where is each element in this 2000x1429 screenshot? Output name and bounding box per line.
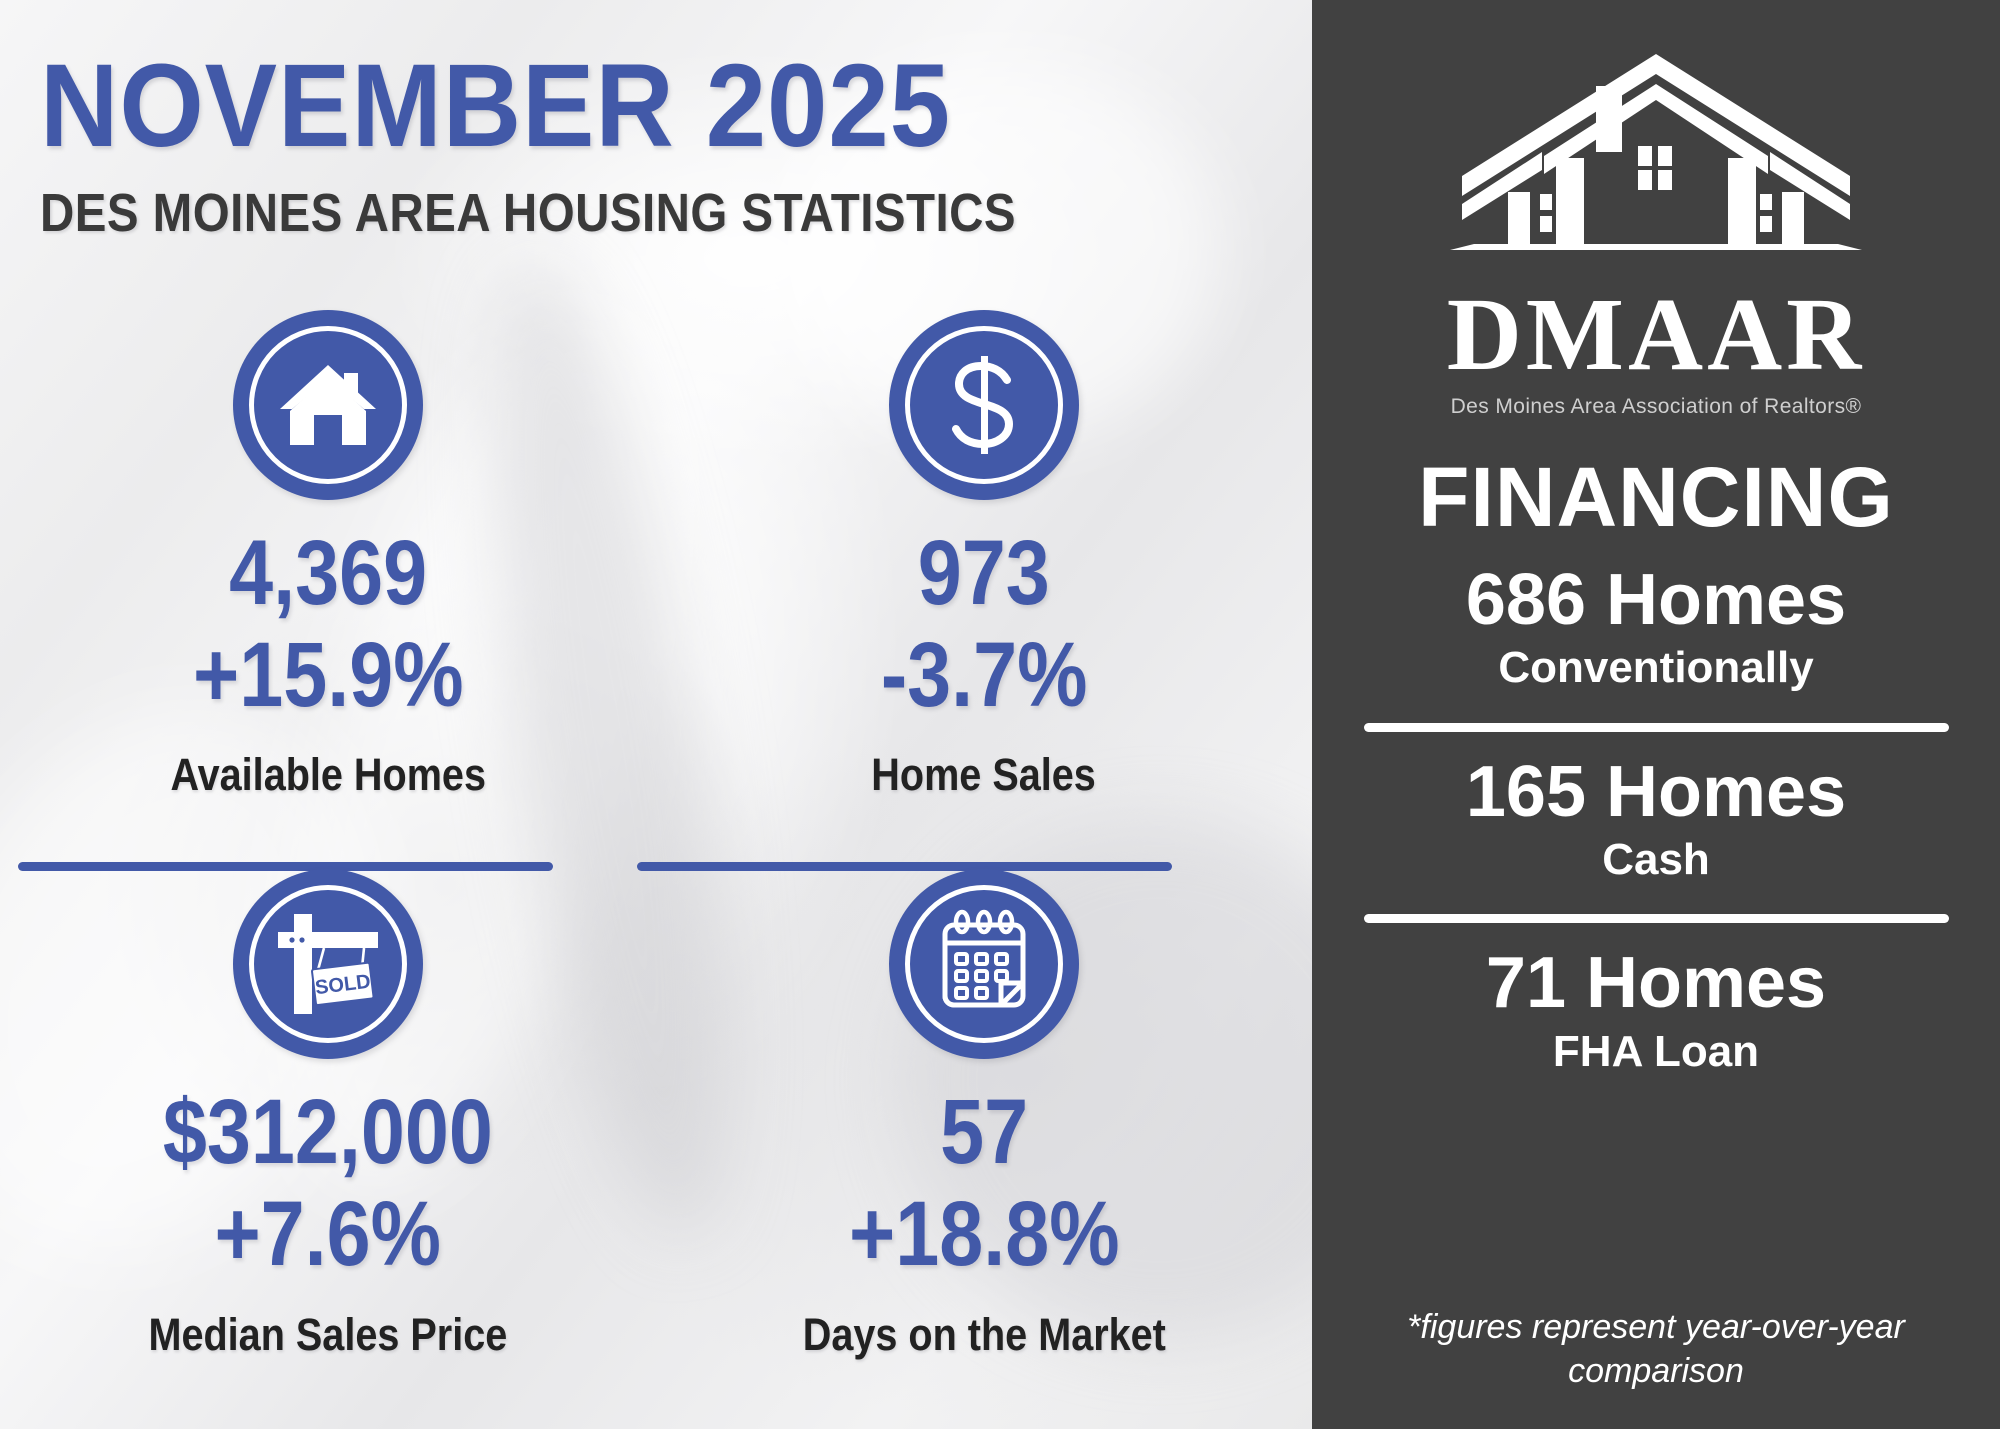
financing-count: 165 Homes	[1466, 754, 1846, 830]
stat-card-available-homes: 4,369 +15.9% Available Homes	[0, 300, 656, 801]
financing-item-fha: 71 Homes FHA Loan	[1486, 945, 1826, 1076]
financing-type: FHA Loan	[1486, 1028, 1826, 1076]
logo-wordmark: DMAAR	[1447, 283, 1866, 387]
stat-label: Days on the Market	[802, 1309, 1165, 1361]
financing-count: 71 Homes	[1486, 945, 1826, 1021]
dmaar-house-logo-icon	[1446, 52, 1866, 289]
stat-card-home-sales: 973 -3.7% Home Sales	[656, 300, 1312, 801]
stat-card-days-on-market: 57 +18.8% Days on the Market	[656, 801, 1312, 1360]
financing-divider	[1364, 914, 1949, 923]
left-statistics-panel: NOVEMBER 2025 DES MOINES AREA HOUSING ST…	[0, 0, 1312, 1429]
stat-change: +18.8%	[849, 1187, 1120, 1283]
financing-count: 686 Homes	[1466, 562, 1846, 638]
stat-value: 4,369	[229, 526, 427, 622]
footnote: *figures represent year-over-year compar…	[1312, 1305, 2000, 1393]
financing-item-cash: 165 Homes Cash	[1466, 754, 1846, 885]
logo-tagline: Des Moines Area Association of Realtors®	[1451, 395, 1862, 419]
stat-label: Median Sales Price	[149, 1309, 508, 1361]
stat-label: Home Sales	[872, 749, 1097, 801]
sold-sign-icon: SOLD	[233, 869, 423, 1059]
stat-label: Available Homes	[170, 749, 485, 801]
statistics-grid: 4,369 +15.9% Available Homes 973 -3.7% H…	[0, 300, 1312, 1361]
calendar-icon	[889, 869, 1079, 1059]
financing-heading: FINANCING	[1418, 449, 1894, 546]
poster-header: NOVEMBER 2025 DES MOINES AREA HOUSING ST…	[0, 46, 1250, 244]
page-subtitle: DES MOINES AREA HOUSING STATISTICS	[40, 182, 1105, 244]
stat-value: 973	[918, 526, 1050, 622]
financing-item-conventional: 686 Homes Conventionally	[1466, 562, 1846, 693]
stat-value: $312,000	[163, 1085, 493, 1181]
housing-statistics-infographic: NOVEMBER 2025 DES MOINES AREA HOUSING ST…	[0, 0, 2000, 1429]
stat-change: +7.6%	[215, 1187, 442, 1283]
stat-card-median-sales-price: SOLD $312,000 +7.6% Median Sales Price	[0, 801, 656, 1360]
house-icon	[233, 310, 423, 500]
stat-value: 57	[940, 1085, 1028, 1181]
dollar-coin-icon	[889, 310, 1079, 500]
financing-type: Cash	[1466, 836, 1846, 884]
financing-type: Conventionally	[1466, 644, 1846, 692]
page-title: NOVEMBER 2025	[40, 46, 1153, 166]
stat-change: +15.9%	[193, 628, 464, 724]
financing-divider	[1364, 723, 1949, 732]
dmaar-logo: DMAAR Des Moines Area Association of Rea…	[1446, 52, 1866, 419]
stat-change: -3.7%	[881, 628, 1088, 724]
right-financing-panel: DMAAR Des Moines Area Association of Rea…	[1312, 0, 2000, 1429]
